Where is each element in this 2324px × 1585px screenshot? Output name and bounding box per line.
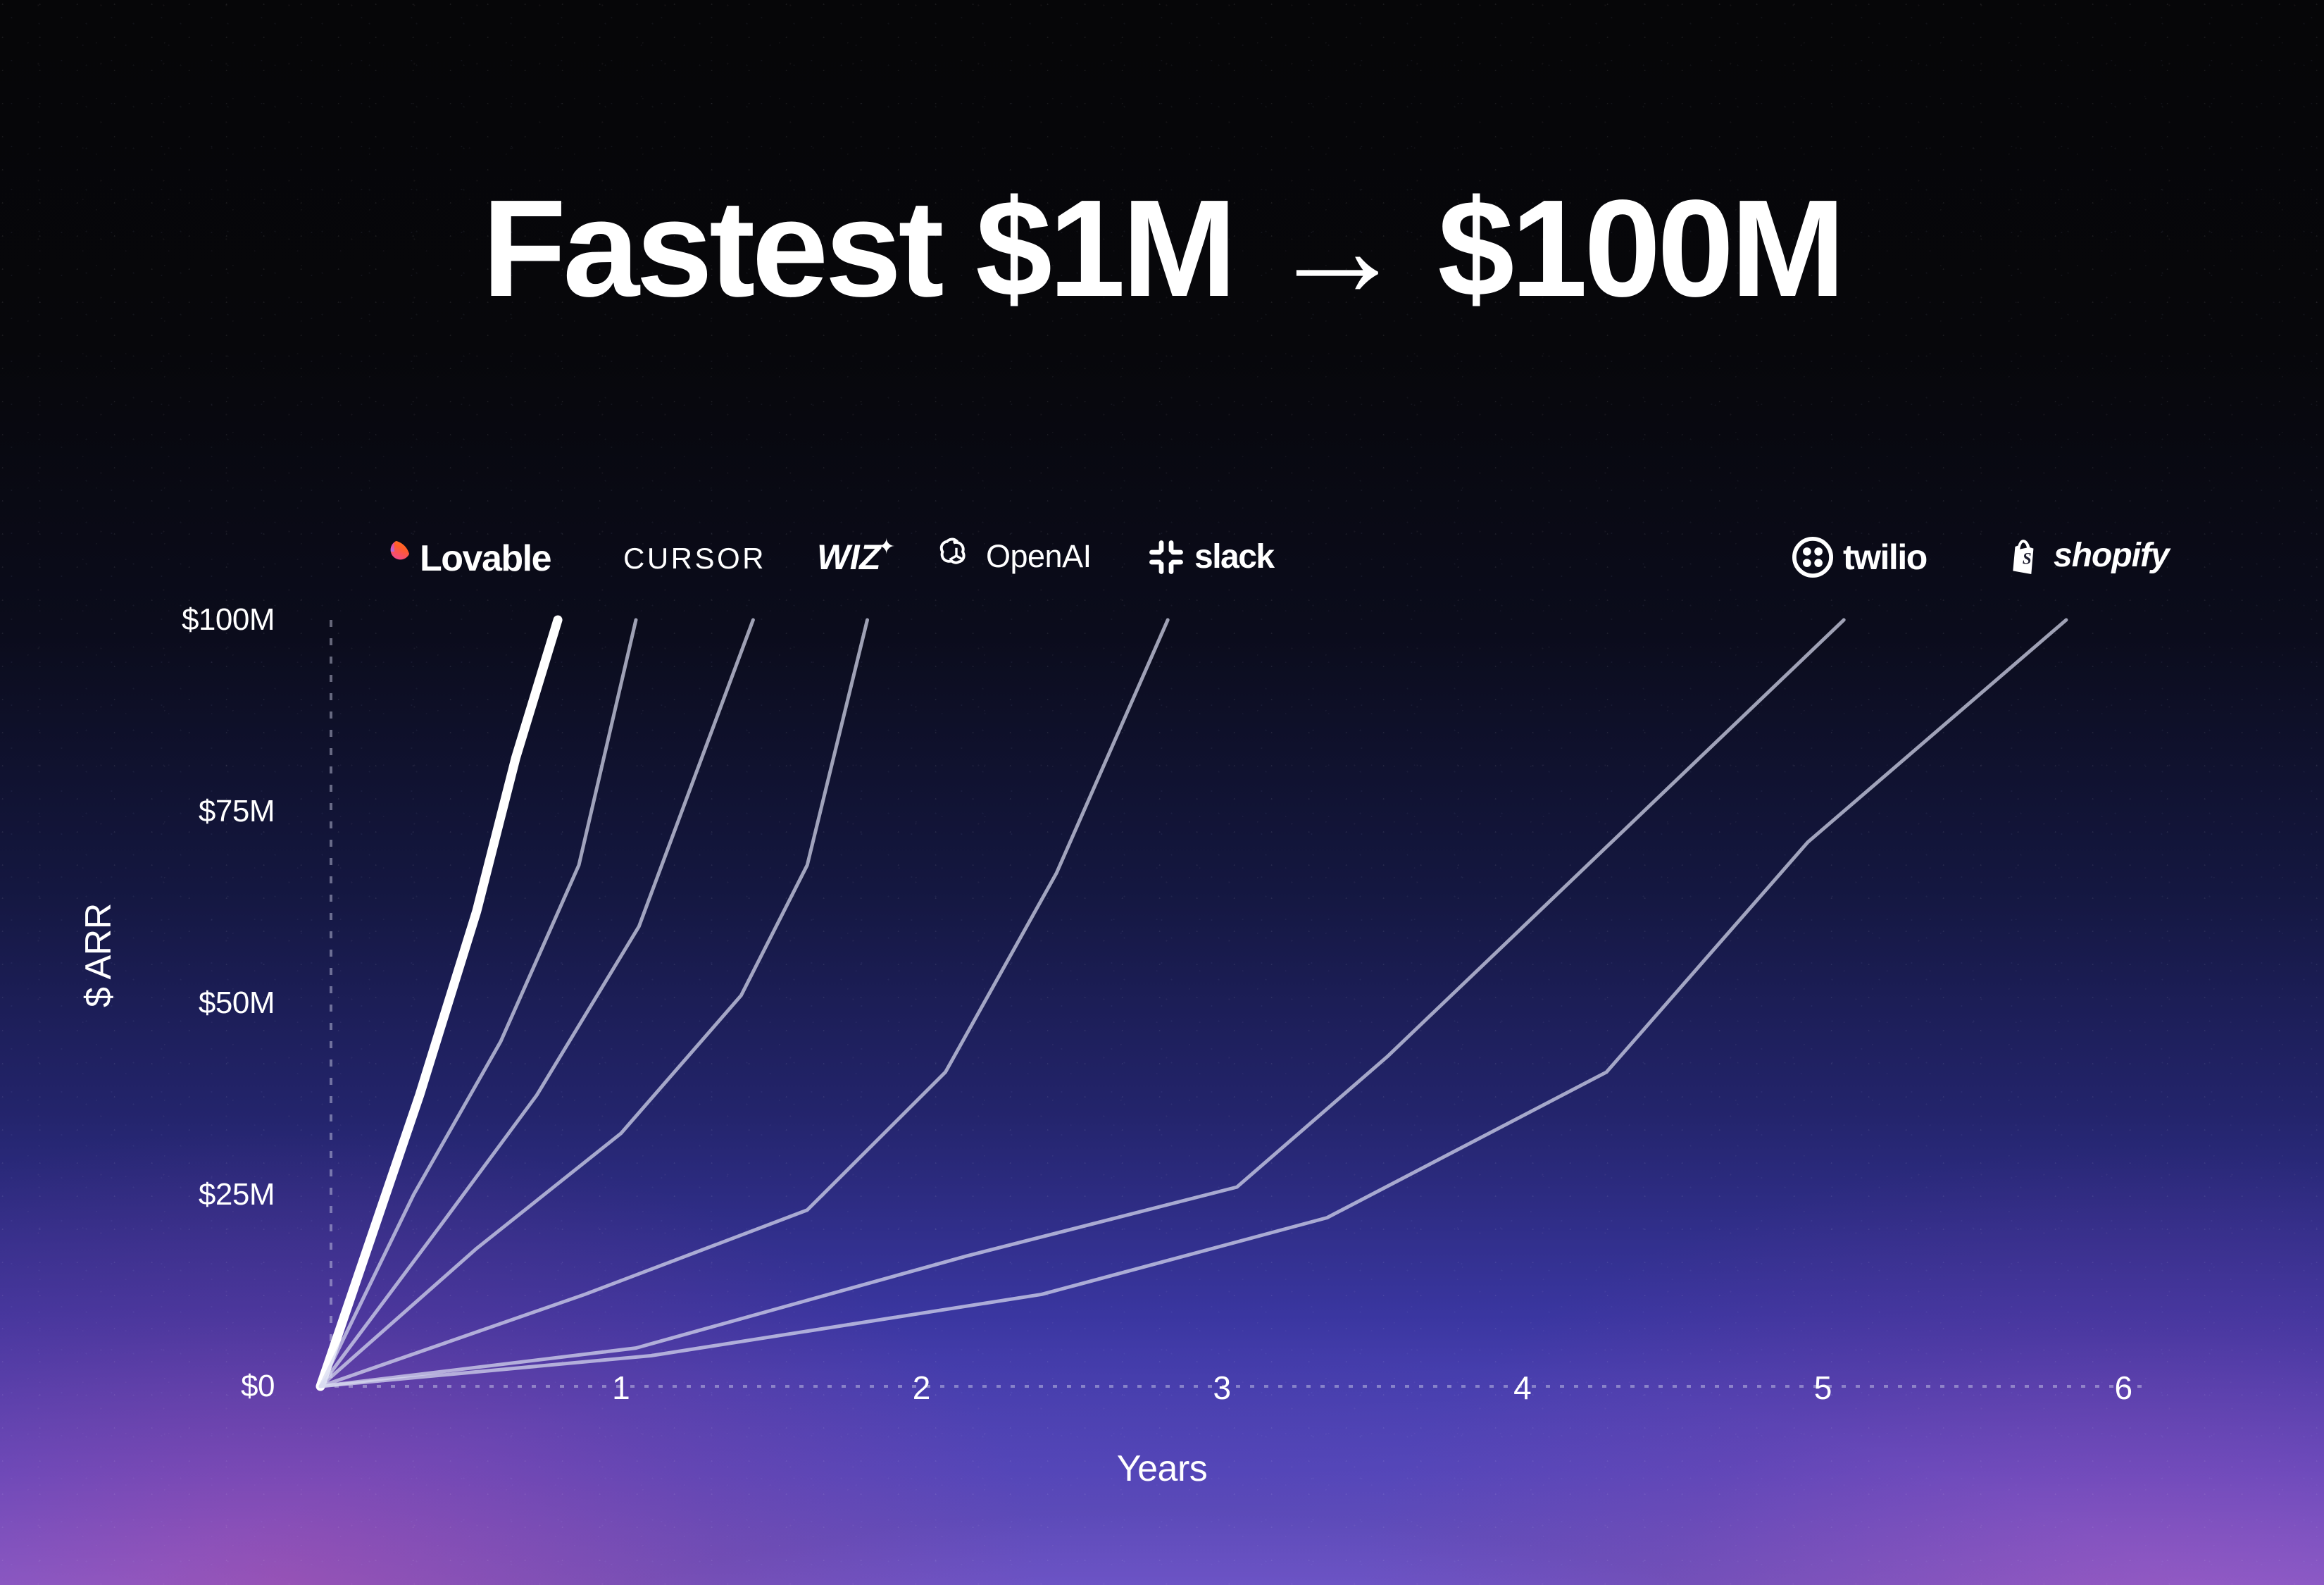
line-series-wiz	[320, 620, 753, 1386]
y-axis-tick-0: $0	[120, 1369, 275, 1404]
line-series-shopify	[320, 620, 2066, 1386]
x-axis-tick-6: 6	[2092, 1369, 2155, 1407]
x-axis-tick-4: 4	[1491, 1369, 1554, 1407]
x-axis-label: Years	[0, 1448, 2324, 1490]
x-axis-tick-5: 5	[1791, 1369, 1854, 1407]
y-axis-tick-50: $50M	[120, 986, 275, 1021]
y-axis-tick-100: $100M	[120, 602, 275, 638]
line-series-twilio	[320, 620, 1844, 1386]
poster-canvas: Fastest $1M → $100M LovableCURSORWIZ✦Ope…	[0, 0, 2324, 1585]
x-axis-tick-3: 3	[1190, 1369, 1254, 1407]
y-axis-tick-75: $75M	[120, 794, 275, 829]
chart-plot-area: $100M$75M$50M$25M$0123456	[0, 0, 2324, 1585]
y-axis-tick-25: $25M	[120, 1177, 275, 1212]
x-axis-tick-2: 2	[889, 1369, 953, 1407]
line-series-lovable	[320, 620, 558, 1386]
y-axis-label: $ ARR	[77, 903, 120, 1007]
line-series-cursor	[320, 620, 636, 1386]
line-series-svg	[0, 0, 2324, 1585]
x-axis-tick-1: 1	[589, 1369, 653, 1407]
